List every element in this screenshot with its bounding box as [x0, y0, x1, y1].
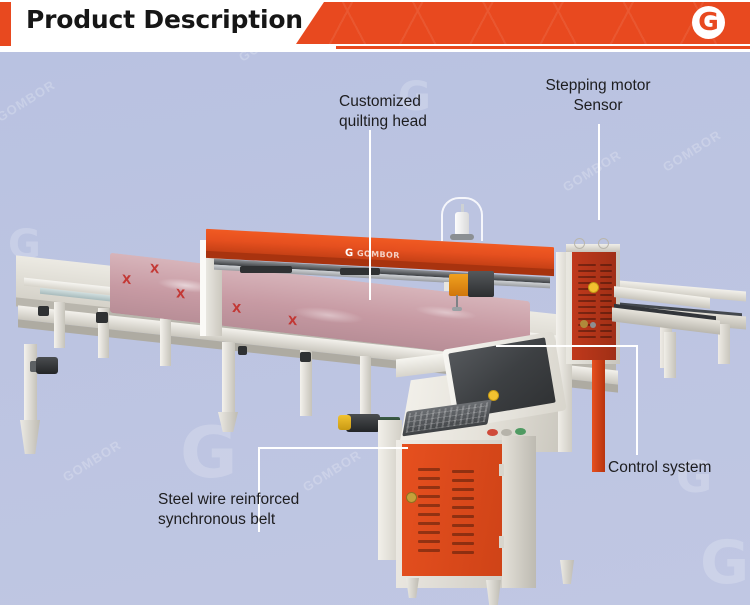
- fabric-pattern-mark: X: [176, 286, 185, 301]
- cabinet-foot: [486, 580, 501, 605]
- cabinet-vent-group: [452, 470, 474, 556]
- frame-leg: [54, 302, 65, 348]
- product-photo: GOMBOR GOMBOR GOMBOR GOMBOR GOMBOR GOMBO…: [0, 52, 750, 605]
- fabric-pattern-mark: X: [150, 261, 159, 276]
- leader-line-quilting-head: [369, 130, 371, 300]
- leader-line-belt-horizontal: [258, 447, 408, 449]
- machine-brand-logo-icon: G: [345, 248, 353, 259]
- callout-stepping-motor-sensor: Stepping motor Sensor: [500, 76, 696, 116]
- fabric-pattern-mark: X: [122, 272, 131, 287]
- cabinet-hinge: [499, 464, 504, 476]
- frame-leg: [160, 314, 171, 366]
- leader-line-stepping-motor: [598, 124, 600, 220]
- brand-logo-letter: G: [698, 9, 719, 34]
- header-underline: [336, 46, 750, 49]
- frame-corner-cap: [38, 306, 49, 316]
- belt-drive-motor: [346, 414, 380, 432]
- thread-spool: [455, 212, 469, 236]
- gantry-carriage-block: [340, 268, 380, 275]
- watermark-text: GOMBOR: [560, 147, 624, 195]
- belt-drive-pulley: [338, 415, 351, 430]
- frame-corner-cap: [300, 352, 311, 362]
- frame-foot: [218, 412, 238, 432]
- cabinet-vent-group: [600, 264, 612, 342]
- frame-corner-cap: [238, 346, 247, 355]
- callout-quilting-head: Customized quilting head: [339, 92, 427, 132]
- fabric-pattern-mark: X: [232, 301, 241, 316]
- front-cabinet-lock[interactable]: [406, 492, 417, 503]
- console-start-button[interactable]: [515, 428, 526, 435]
- frame-leg: [24, 344, 37, 422]
- callout-synchronous-belt: Steel wire reinforced synchronous belt: [158, 490, 299, 530]
- header-accent-bar: [0, 2, 11, 46]
- front-cabinet-side: [502, 436, 536, 588]
- cabinet-eyebolt-icon: [598, 238, 609, 249]
- left-roller-head: [36, 357, 58, 374]
- fabric-pattern-mark: X: [288, 313, 297, 328]
- cabinet-vent-group: [578, 264, 596, 342]
- thread-spool-base: [450, 234, 474, 240]
- brand-logo-icon: G: [692, 6, 725, 39]
- right-orange-column: [592, 360, 605, 472]
- leader-line-control-horizontal: [496, 345, 638, 347]
- gantry-carriage-block: [240, 266, 292, 273]
- watermark-g-icon: [700, 528, 749, 598]
- watermark-text: GOMBOR: [0, 77, 58, 125]
- watermark-text: GOMBOR: [236, 52, 300, 65]
- sensor-indicator: [588, 282, 599, 293]
- cabinet-eyebolt-icon: [574, 238, 585, 249]
- cabinet-foot: [406, 578, 419, 598]
- console-stop-button[interactable]: [487, 429, 498, 436]
- frame-corner-cap: [96, 312, 108, 323]
- frame-leg: [360, 356, 371, 416]
- watermark-text: GOMBOR: [660, 127, 724, 175]
- frame-leg: [222, 342, 235, 414]
- quilting-head-presser-foot: [452, 307, 462, 311]
- header-banner-pattern: [296, 2, 750, 44]
- right-side-rail-leg: [664, 332, 676, 378]
- page-title: Product Description: [26, 5, 303, 34]
- cabinet-hinge: [499, 536, 504, 548]
- frame-foot: [20, 420, 40, 454]
- quilting-head-motor: [468, 271, 494, 297]
- cabinet-vent-group: [418, 468, 440, 554]
- callout-control-system: Control system: [608, 458, 711, 478]
- header-banner: [296, 2, 750, 44]
- console-reset-button[interactable]: [501, 429, 512, 436]
- product-description-page: Product Description G GOMBOR GOMBOR GOMB…: [0, 0, 750, 605]
- cabinet-foot: [560, 560, 574, 584]
- cabinet-latch: [590, 322, 596, 328]
- watermark-text: GOMBOR: [300, 447, 364, 495]
- leader-line-control-vertical: [636, 345, 638, 455]
- page-header: Product Description G: [0, 0, 750, 52]
- watermark-text: GOMBOR: [60, 437, 124, 485]
- cabinet-lock: [580, 320, 588, 328]
